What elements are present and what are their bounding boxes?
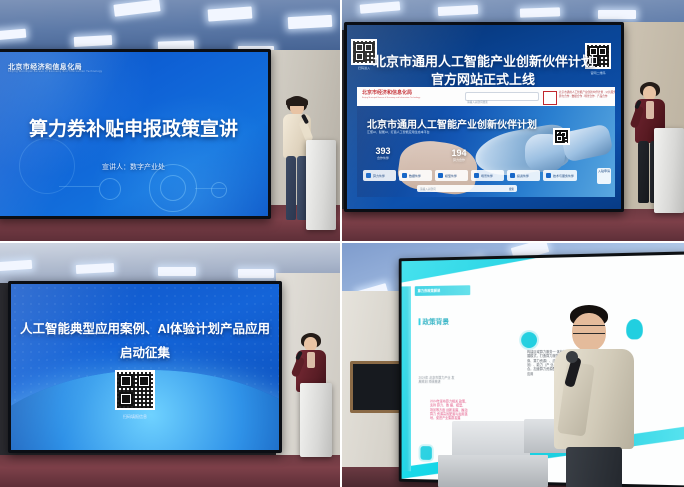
- nav-item[interactable]: 算力伙伴: [363, 170, 396, 181]
- slide-subtitle: 宣讲人：数字产业处: [0, 162, 268, 172]
- collage-panel-bottom-left: 人工智能典型应用案例、AI体验计划产品应用 启动征集 扫码填报信息: [0, 243, 342, 487]
- led-screen: 扫码进入 官网二维码 北京市通用人工智能产业创新伙伴计划 官方网站正式上线 北京…: [344, 22, 624, 212]
- hero-qr-code[interactable]: [553, 128, 570, 145]
- hero-stat-label: 合作伙伴: [363, 156, 403, 160]
- website-logo-en: Beijing Municipal Bureau of Economy and …: [362, 97, 420, 99]
- window-frame: [350, 361, 402, 413]
- nav-item[interactable]: 场景伙伴: [471, 170, 504, 181]
- qr-code[interactable]: [115, 370, 155, 410]
- nav-item[interactable]: 技术与服务伙伴: [543, 170, 577, 181]
- glasses-icon: [573, 325, 605, 334]
- collage-panel-top-right: 扫码进入 官网二维码 北京市通用人工智能产业创新伙伴计划 官方网站正式上线 北京…: [342, 0, 684, 243]
- decorative-ring: [160, 175, 186, 201]
- slide-org-logo-en: Beijing Municipal Bureau of Economy and …: [8, 71, 102, 74]
- website-nav-row: 算力伙伴 数据伙伴 模型伙伴 场景伙伴 投资伙伴 技术与服务伙伴: [363, 170, 577, 181]
- slide-banner-tag-label: 算力券政策解读: [418, 288, 441, 293]
- nav-icon: [510, 173, 515, 178]
- led-screen: 北京市经济和信息化局 Beijing Municipal Bureau of E…: [0, 49, 271, 219]
- slide-title-line1: 北京市通用人工智能产业创新伙伴计划: [373, 51, 593, 70]
- ceiling-light: [598, 10, 636, 19]
- hero-title: 北京市通用人工智能产业创新伙伴计划: [367, 116, 537, 131]
- speaker-leg: [638, 141, 649, 203]
- decorative-ring: [211, 182, 227, 198]
- website-qr-icon[interactable]: [543, 91, 557, 105]
- nav-item-label: 数据伙伴: [409, 174, 421, 178]
- nav-item[interactable]: 投资伙伴: [507, 170, 540, 181]
- slide-title-line1: 人工智能典型应用案例、AI体验计划产品应用: [11, 318, 279, 337]
- hero-stat: 194 算力合作: [439, 148, 479, 162]
- led-screen: 人工智能典型应用案例、AI体验计划产品应用 启动征集 扫码填报信息: [8, 281, 282, 453]
- collage-panel-bottom-right: 算力券政策解读 政策背景 2024年 北京市算力产业 发展规划 持续推进 202…: [342, 243, 684, 487]
- website-mock: 北京市经济和信息化局 Beijing Municipal Bureau of E…: [357, 87, 615, 197]
- hero-subtitle: 汇聚AI、赋能AI、打造人工智能应用生态本平台: [367, 130, 430, 134]
- website-hero: 北京市通用人工智能产业创新伙伴计划 汇聚AI、赋能AI、打造人工智能应用生态本平…: [357, 106, 615, 197]
- hero-stat-value: 393: [375, 146, 390, 156]
- nav-item[interactable]: 数据伙伴: [399, 170, 432, 181]
- ceiling-light: [520, 7, 560, 17]
- decorative-line: [195, 188, 225, 189]
- nav-icon: [546, 173, 551, 178]
- slide-title: 算力券补贴申报政策宣讲: [0, 114, 268, 141]
- collage-panel-top-left: 北京市经济和信息化局 Beijing Municipal Bureau of E…: [0, 0, 342, 243]
- nav-icon: [402, 173, 407, 178]
- speaker-collar: [307, 352, 315, 368]
- nav-item-label: 投资伙伴: [517, 174, 529, 178]
- decorative-ring: [99, 178, 121, 200]
- hero-stat-value: 194: [451, 148, 466, 158]
- floor: [342, 209, 684, 241]
- nav-item-label: 场景伙伴: [481, 174, 493, 178]
- ceiling-light: [288, 15, 333, 29]
- website-footer-search[interactable]: 请输入关键词 搜索: [417, 185, 517, 192]
- nav-icon: [438, 173, 443, 178]
- slide-title-line2: 官方网站正式上线: [373, 69, 593, 88]
- website-side-tab[interactable]: 入驻申请: [597, 168, 611, 184]
- nav-item[interactable]: 模型伙伴: [435, 170, 468, 181]
- footer-search-placeholder: 请输入关键词: [420, 187, 436, 191]
- website-quick-links[interactable]: 北京市通用人工智能产业创新伙伴计划 · 公共服务 算力合作 · 数据合作 · 场…: [559, 91, 615, 99]
- ceiling-light: [238, 269, 274, 278]
- gear-icon: [521, 332, 537, 348]
- speaker-hair-top: [286, 97, 308, 106]
- nav-item-label: 模型伙伴: [445, 174, 457, 178]
- speaker-figure: [552, 305, 642, 487]
- speaker-head: [643, 86, 656, 100]
- slide-title-line2: 启动征集: [11, 342, 279, 361]
- speaker-head: [304, 337, 317, 351]
- document-icon: [420, 446, 431, 460]
- slide-section-head: 政策背景: [422, 317, 449, 327]
- ceiling-light: [158, 267, 196, 276]
- note-pink: 2024年发布算力相关 政策，支持 算力、数 据、模型、场景等方面 创新发展，推…: [430, 399, 468, 420]
- podium: [300, 383, 332, 457]
- hero-stat: 393 合作伙伴: [363, 146, 403, 160]
- qr-caption: 扫码填报信息: [105, 414, 165, 420]
- speaker-collar: [646, 101, 654, 119]
- nav-item-label: 算力伙伴: [373, 174, 385, 178]
- website-search-placeholder: 请输入关键词搜索: [467, 100, 488, 104]
- note-gray: 2024年 北京市算力产业 发展规划 持续推进: [419, 376, 457, 385]
- nav-icon: [474, 173, 479, 178]
- speaker-leg: [286, 156, 296, 220]
- speaker-legs: [566, 447, 622, 487]
- footer-search-button[interactable]: 搜索: [509, 187, 514, 191]
- microphone-head: [566, 351, 578, 363]
- podium: [654, 128, 684, 213]
- hero-stat-label: 算力合作: [439, 158, 479, 162]
- slide-org-logo: 北京市经济和信息化局 Beijing Municipal Bureau of E…: [8, 64, 102, 74]
- photo-collage: 北京市经济和信息化局 Beijing Municipal Bureau of E…: [0, 0, 684, 487]
- ceiling-light: [74, 35, 112, 47]
- podium: [306, 140, 336, 230]
- nav-item-label: 技术与服务伙伴: [553, 174, 574, 178]
- floor: [0, 455, 340, 487]
- table-base: [438, 455, 548, 487]
- slide-left-rail: [402, 286, 411, 471]
- website-logo: 北京市经济和信息化局 Beijing Municipal Bureau of E…: [362, 91, 420, 99]
- website-logo-cn: 北京市经济和信息化局: [362, 90, 412, 96]
- nav-icon: [366, 173, 371, 178]
- website-quick-links-line2: 算力合作 · 数据合作 · 场景合作 · 产品合作: [559, 95, 615, 99]
